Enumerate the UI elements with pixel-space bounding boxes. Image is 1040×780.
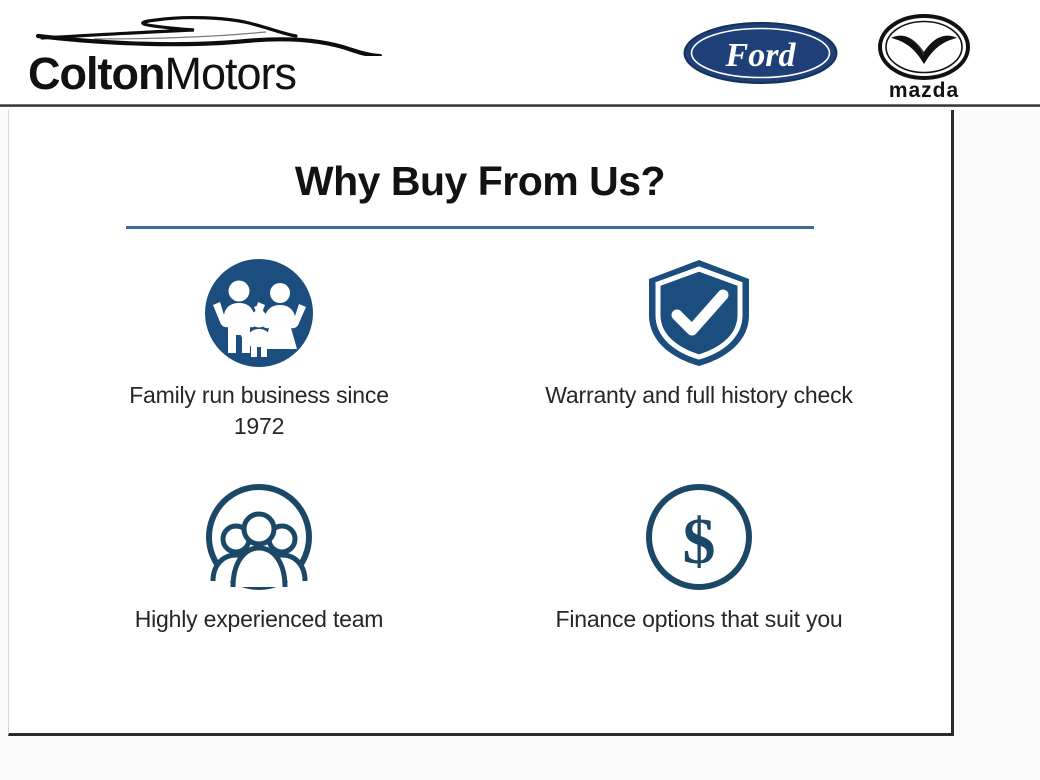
brand-name-light: Motors bbox=[164, 48, 296, 99]
feature-item-family: Family run business since 1972 bbox=[39, 260, 479, 484]
brand-name-strong: Colton bbox=[28, 48, 164, 99]
header-divider bbox=[0, 104, 1040, 107]
feature-label-finance: Finance options that suit you bbox=[544, 604, 854, 635]
svg-text:$: $ bbox=[683, 505, 716, 578]
ford-oval-logo[interactable]: Ford bbox=[683, 22, 838, 84]
dollar-circle-icon: $ bbox=[640, 484, 758, 590]
mazda-wordmark: mazda bbox=[889, 79, 959, 102]
mazda-emblem-logo[interactable]: mazda bbox=[869, 14, 979, 102]
page-title: Why Buy From Us? bbox=[9, 158, 951, 205]
feature-label-team-line2: team bbox=[333, 606, 383, 632]
feature-label-family-line2: 1972 bbox=[234, 413, 284, 439]
family-icon bbox=[200, 260, 318, 366]
feature-label-finance-line2: you bbox=[806, 606, 842, 632]
team-group-icon bbox=[200, 484, 318, 590]
content-card: Why Buy From Us? Family r bbox=[8, 110, 954, 736]
shield-check-icon bbox=[640, 260, 758, 366]
title-divider bbox=[126, 226, 814, 229]
feature-grid: Family run business since 1972 Warranty … bbox=[39, 260, 919, 708]
feature-label-family-line1: Family run business since bbox=[129, 382, 389, 408]
feature-label-warranty-line2: check bbox=[794, 382, 853, 408]
ford-wordmark: Ford bbox=[725, 37, 797, 74]
header-band: ColtonMotors Ford mazda bbox=[0, 0, 1040, 106]
feature-item-finance: $ Finance options that suit you bbox=[479, 484, 919, 708]
feature-label-warranty: Warranty and full history check bbox=[544, 380, 854, 411]
feature-label-finance-line1: Finance options that suit bbox=[555, 606, 799, 632]
brand-wordmark: ColtonMotors bbox=[28, 48, 388, 100]
feature-item-warranty: Warranty and full history check bbox=[479, 260, 919, 484]
feature-label-warranty-line1: Warranty and full history bbox=[545, 382, 787, 408]
feature-label-family: Family run business since 1972 bbox=[104, 380, 414, 442]
feature-item-team: Highly experienced team bbox=[39, 484, 479, 708]
brand-logo[interactable]: ColtonMotors bbox=[28, 10, 388, 102]
feature-label-team-line1: Highly experienced bbox=[135, 606, 327, 632]
feature-label-team: Highly experienced team bbox=[104, 604, 414, 635]
